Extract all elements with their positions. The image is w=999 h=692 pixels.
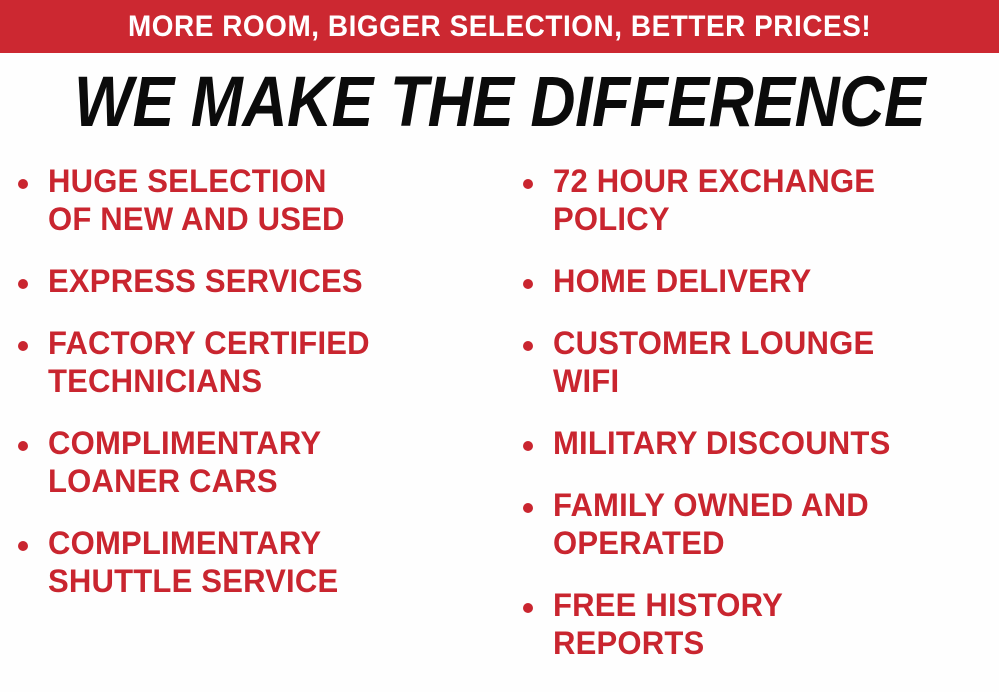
dealership-promo-banner: MORE ROOM, BIGGER SELECTION, BETTER PRIC… — [0, 0, 999, 692]
bullet-dot-icon — [18, 441, 28, 451]
main-headline: WE MAKE THE DIFFERENCE — [74, 67, 925, 139]
feature-label: FREE HISTORY REPORTS — [553, 586, 986, 662]
feature-item: FACTORY CERTIFIED TECHNICIANS — [0, 324, 500, 400]
bullet-dot-icon — [18, 541, 28, 551]
features-column-left: HUGE SELECTION OF NEW AND USED EXPRESS S… — [0, 152, 500, 692]
feature-item: CUSTOMER LOUNGE WIFI — [500, 324, 999, 400]
top-banner-bar: MORE ROOM, BIGGER SELECTION, BETTER PRIC… — [0, 0, 999, 53]
bullet-dot-icon — [523, 603, 533, 613]
bullet-dot-icon — [18, 179, 28, 189]
feature-item: COMPLIMENTARY SHUTTLE SERVICE — [0, 524, 500, 600]
feature-item: EXPRESS SERVICES — [0, 262, 500, 300]
feature-label: HUGE SELECTION OF NEW AND USED — [48, 162, 486, 238]
feature-label: COMPLIMENTARY SHUTTLE SERVICE — [48, 524, 486, 600]
bullet-dot-icon — [18, 279, 28, 289]
main-headline-area: WE MAKE THE DIFFERENCE — [0, 62, 999, 144]
features-columns: HUGE SELECTION OF NEW AND USED EXPRESS S… — [0, 152, 999, 692]
bullet-dot-icon — [523, 503, 533, 513]
bullet-dot-icon — [523, 341, 533, 351]
features-column-right: 72 HOUR EXCHANGE POLICY HOME DELIVERY CU… — [500, 152, 999, 692]
bullet-dot-icon — [18, 341, 28, 351]
feature-label: COMPLIMENTARY LOANER CARS — [48, 424, 486, 500]
feature-item: COMPLIMENTARY LOANER CARS — [0, 424, 500, 500]
feature-label: CUSTOMER LOUNGE WIFI — [553, 324, 986, 400]
feature-label: FACTORY CERTIFIED TECHNICIANS — [48, 324, 486, 400]
feature-item: FAMILY OWNED AND OPERATED — [500, 486, 999, 562]
feature-item: 72 HOUR EXCHANGE POLICY — [500, 162, 999, 238]
feature-label: EXPRESS SERVICES — [48, 262, 486, 300]
bullet-dot-icon — [523, 441, 533, 451]
bullet-dot-icon — [523, 279, 533, 289]
feature-item: MILITARY DISCOUNTS — [500, 424, 999, 462]
bullet-dot-icon — [523, 179, 533, 189]
feature-label: HOME DELIVERY — [553, 262, 986, 300]
top-banner-headline: MORE ROOM, BIGGER SELECTION, BETTER PRIC… — [128, 12, 871, 42]
feature-item: FREE HISTORY REPORTS — [500, 586, 999, 662]
feature-label: FAMILY OWNED AND OPERATED — [553, 486, 986, 562]
feature-item: HOME DELIVERY — [500, 262, 999, 300]
feature-item: HUGE SELECTION OF NEW AND USED — [0, 162, 500, 238]
feature-label: MILITARY DISCOUNTS — [553, 424, 986, 462]
feature-label: 72 HOUR EXCHANGE POLICY — [553, 162, 986, 238]
